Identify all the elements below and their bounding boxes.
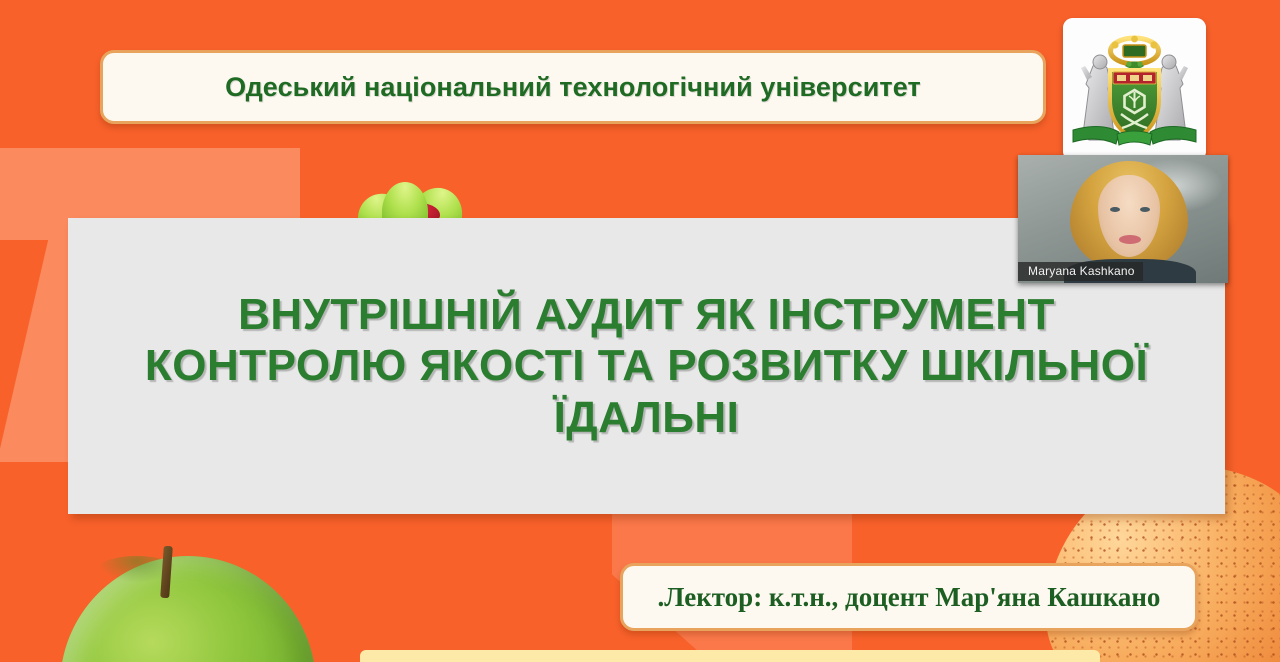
coat-of-arms-icon bbox=[1063, 18, 1206, 161]
participant-eye bbox=[1140, 207, 1150, 212]
bottom-accent-strip bbox=[360, 650, 1100, 662]
lettuce-and-radish-image bbox=[352, 178, 472, 222]
presentation-slide: Одеський національний технологічний унів… bbox=[0, 0, 1280, 662]
video-participant-tile[interactable]: Maryana Kashkano bbox=[1018, 155, 1228, 283]
header-banner: Одеський національний технологічний унів… bbox=[100, 50, 1046, 124]
participant-name-label: Maryana Kashkano bbox=[1018, 262, 1143, 281]
lecturer-name: .Лектор: к.т.н., доцент Мар'яна Кашкано bbox=[658, 582, 1161, 613]
slide-title: ВНУТРІШНІЙ АУДИТ ЯК ІНСТРУМЕНТ КОНТРОЛЮ … bbox=[68, 289, 1225, 442]
university-name: Одеський національний технологічний унів… bbox=[225, 72, 921, 103]
participant-lips bbox=[1119, 235, 1141, 244]
participant-eye bbox=[1110, 207, 1120, 212]
university-logo bbox=[1063, 18, 1206, 161]
lecturer-banner: .Лектор: к.т.н., доцент Мар'яна Кашкано bbox=[620, 563, 1198, 631]
